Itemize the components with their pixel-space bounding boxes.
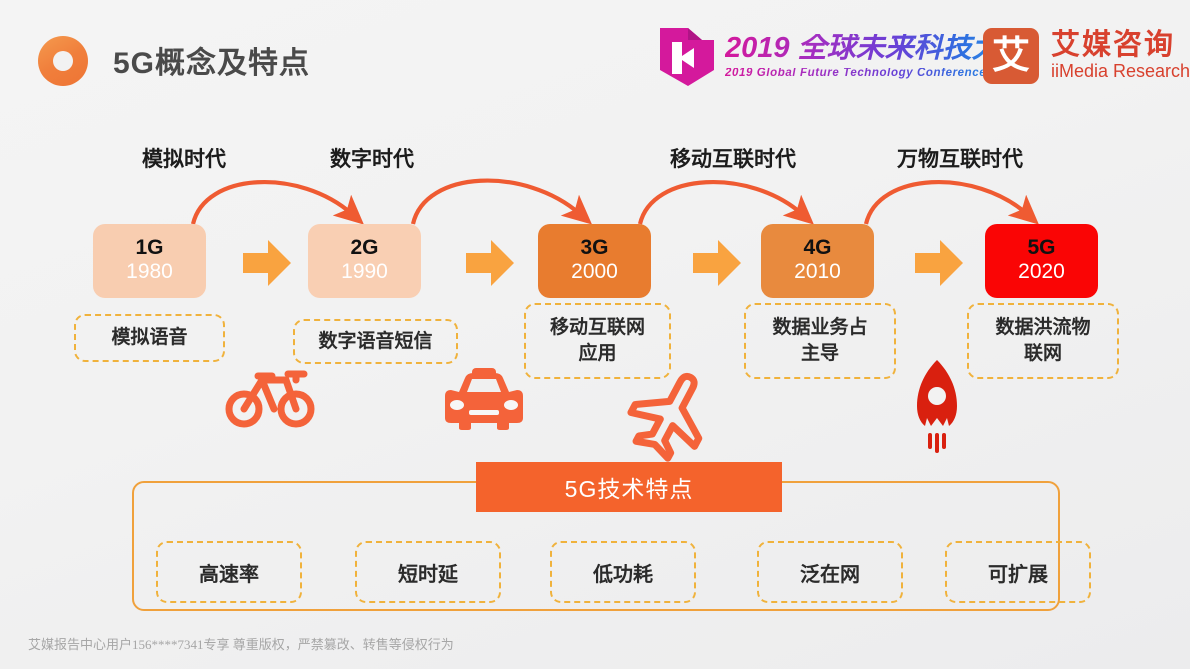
generation-box-3g[interactable]: 3G 2000 [538, 224, 651, 298]
era-label-0: 模拟时代 [142, 143, 226, 173]
generation-box-5g[interactable]: 5G 2020 [985, 224, 1098, 298]
generation-name: 1G [135, 236, 163, 259]
generation-year: 2020 [1018, 259, 1065, 285]
features-panel-title: 5G技术特点 [476, 462, 782, 512]
slide-header: 5G概念及特点 2019 全球未来科技大会 2019 Global Future… [0, 0, 1190, 110]
generation-year: 2010 [794, 259, 841, 285]
generation-name: 2G [350, 236, 378, 259]
generation-name: 3G [580, 236, 608, 259]
era-label-2: 移动互联时代 [670, 143, 796, 173]
orange-donut-icon [38, 36, 88, 86]
generation-desc-5g: 数据洪流物 联网 [967, 303, 1119, 379]
conference-shield-icon [658, 26, 716, 88]
era-label-3: 万物互联时代 [897, 143, 1023, 173]
generation-box-1g[interactable]: 1G 1980 [93, 224, 206, 298]
generation-year: 1990 [341, 259, 388, 285]
generation-desc-3g: 移动互联网 应用 [524, 303, 671, 379]
step-arrow-icon-2 [693, 240, 741, 286]
iimedia-mark-char: 艾 [983, 28, 1039, 84]
rocket-icon [917, 360, 957, 453]
generation-name: 5G [1027, 236, 1055, 259]
generation-year: 2000 [571, 259, 618, 285]
page-title: 5G概念及特点 [113, 38, 310, 82]
generation-desc-4g: 数据业务占 主导 [744, 303, 896, 379]
generation-year: 1980 [126, 259, 173, 285]
bicycle-icon [229, 374, 311, 424]
iimedia-mark-icon: 艾 [983, 28, 1039, 84]
feature-box-2[interactable]: 低功耗 [550, 541, 696, 603]
step-arrow-icon-3 [915, 240, 963, 286]
generation-box-2g[interactable]: 2G 1990 [308, 224, 421, 298]
iimedia-name-cn: 艾媒咨询 [1051, 30, 1190, 60]
iimedia-logo: 艾 艾媒咨询 iiMedia Research [983, 26, 1190, 86]
taxi-car-icon [445, 368, 523, 430]
generation-desc-2g: 数字语音短信 [293, 319, 458, 364]
step-arrow-icon-0 [243, 240, 291, 286]
feature-box-4[interactable]: 可扩展 [945, 541, 1091, 603]
feature-box-3[interactable]: 泛在网 [757, 541, 903, 603]
transition-arc-group [193, 181, 1027, 224]
iimedia-name-en: iiMedia Research [1051, 62, 1190, 82]
generation-name: 4G [803, 236, 831, 259]
slide-root: 5G概念及特点 2019 全球未来科技大会 2019 Global Future… [0, 0, 1190, 669]
feature-box-1[interactable]: 短时延 [355, 541, 501, 603]
generation-desc-1g: 模拟语音 [74, 314, 225, 362]
copyright-footer: 艾媒报告中心用户156****7341专享 尊重版权，严禁篡改、转售等侵权行为 [28, 634, 454, 653]
step-arrow-icon-1 [466, 240, 514, 286]
conference-logo: 2019 全球未来科技大会 2019 Global Future Technol… [658, 24, 1030, 90]
feature-box-0[interactable]: 高速率 [156, 541, 302, 603]
generation-box-4g[interactable]: 4G 2010 [761, 224, 874, 298]
era-label-1: 数字时代 [330, 143, 414, 173]
